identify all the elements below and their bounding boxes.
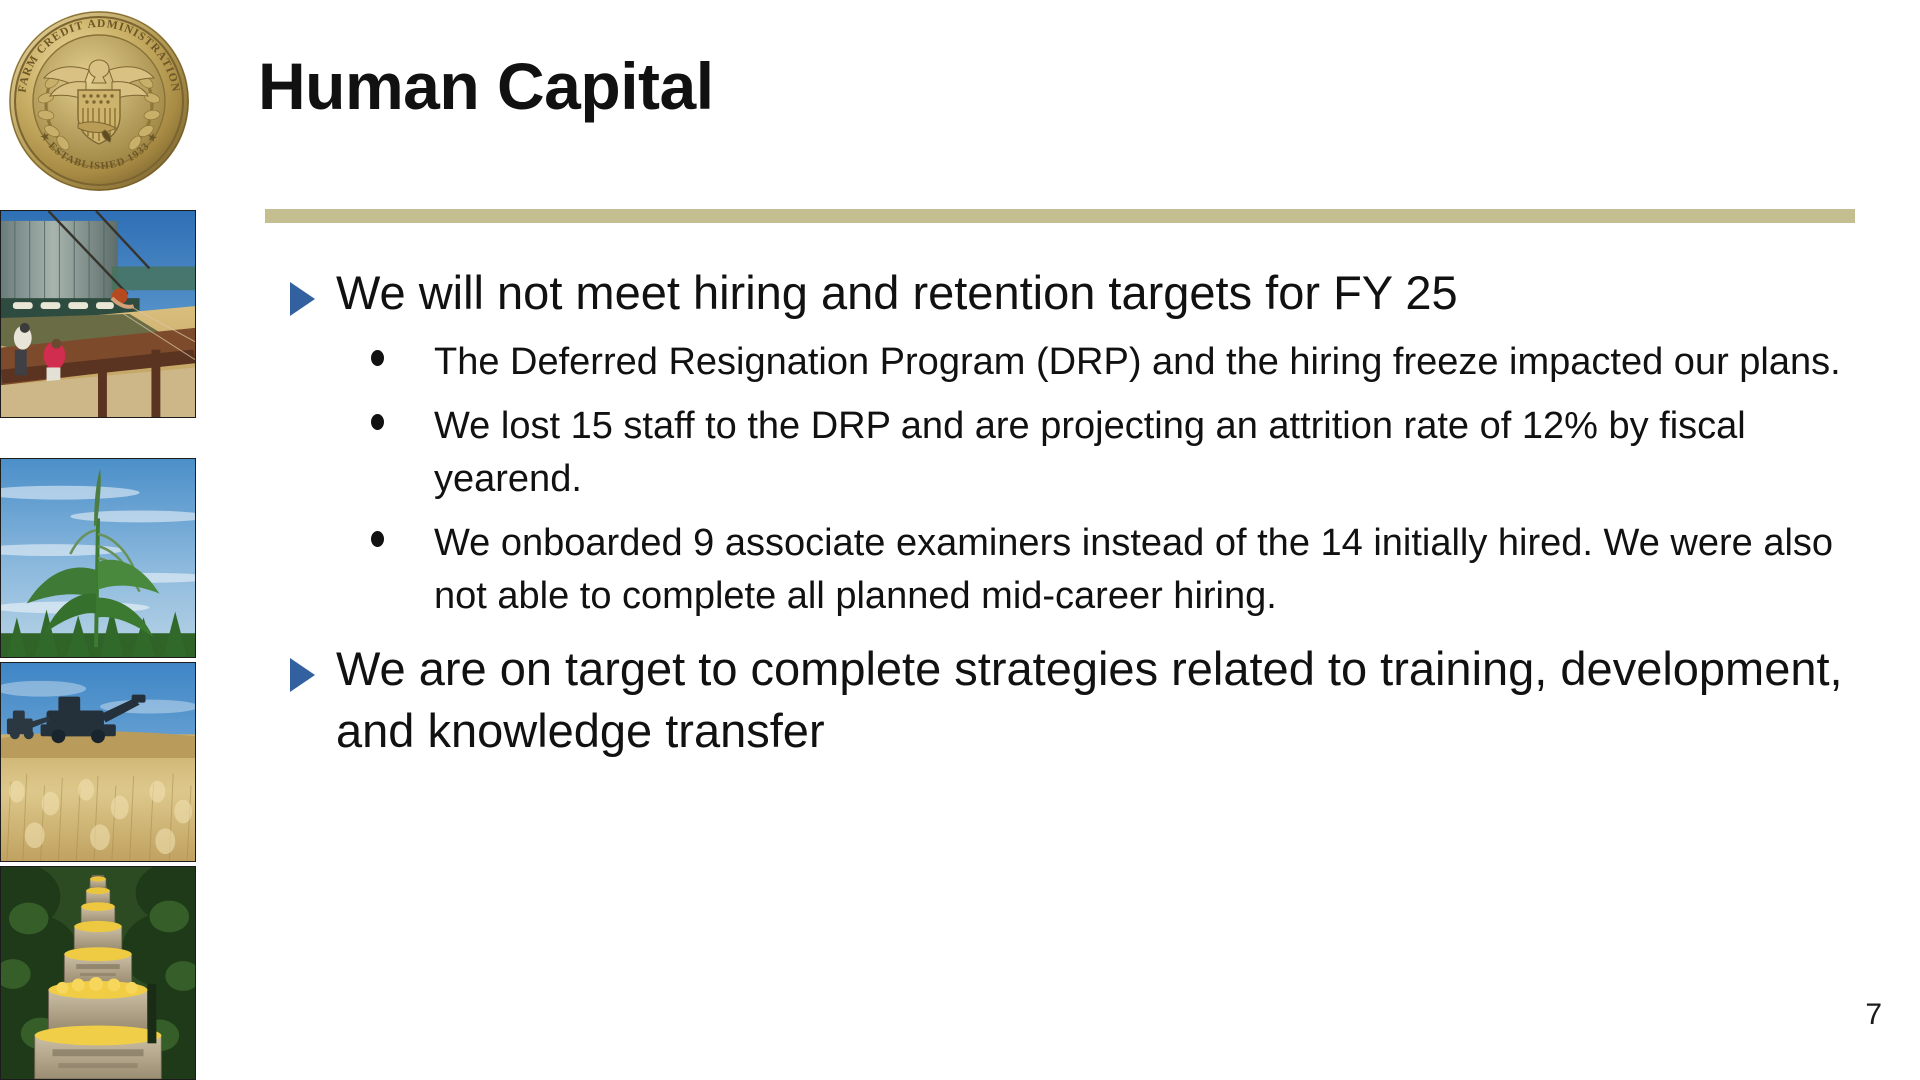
corn-field-photo — [0, 458, 196, 658]
grain-elevator-photo — [0, 210, 196, 418]
bullet-level2-text: We onboarded 9 associate examiners inste… — [434, 522, 1833, 616]
bullet-level2: The Deferred Resignation Program (DRP) a… — [258, 336, 1878, 388]
bullet-level1: We will not meet hiring and retention ta… — [258, 262, 1878, 324]
farm-credit-administration-seal-icon: FARM CREDIT ADMINISTRATION ★ ESTABLISHED… — [6, 8, 192, 194]
bullet-level2: We lost 15 staff to the DRP and are proj… — [258, 400, 1878, 505]
citrus-crates-photo — [0, 866, 196, 1080]
sidebar-image-strip: FARM CREDIT ADMINISTRATION ★ ESTABLISHED… — [0, 0, 196, 1080]
bullet-level2-text: The Deferred Resignation Program (DRP) a… — [434, 341, 1841, 383]
bullet-sublist: The Deferred Resignation Program (DRP) a… — [258, 336, 1878, 622]
wheat-harvest-photo — [0, 662, 196, 862]
triangle-bullet-icon — [290, 282, 315, 316]
presentation-slide: FARM CREDIT ADMINISTRATION ★ ESTABLISHED… — [0, 0, 1920, 1080]
round-bullet-icon — [371, 350, 384, 366]
title-divider-rule — [265, 209, 1855, 223]
bullet-level1-text: We are on target to complete strategies … — [336, 642, 1843, 757]
round-bullet-icon — [371, 531, 384, 547]
page-title: Human Capital — [258, 52, 714, 121]
round-bullet-icon — [371, 414, 384, 430]
bullet-level2: We onboarded 9 associate examiners inste… — [258, 517, 1878, 622]
bullet-level1: We are on target to complete strategies … — [258, 638, 1878, 762]
triangle-bullet-icon — [290, 658, 315, 692]
bullet-level1-text: We will not meet hiring and retention ta… — [336, 266, 1458, 319]
slide-body-content: We will not meet hiring and retention ta… — [258, 262, 1878, 766]
bullet-level2-text: We lost 15 staff to the DRP and are proj… — [434, 405, 1746, 499]
page-number: 7 — [1865, 998, 1882, 1032]
